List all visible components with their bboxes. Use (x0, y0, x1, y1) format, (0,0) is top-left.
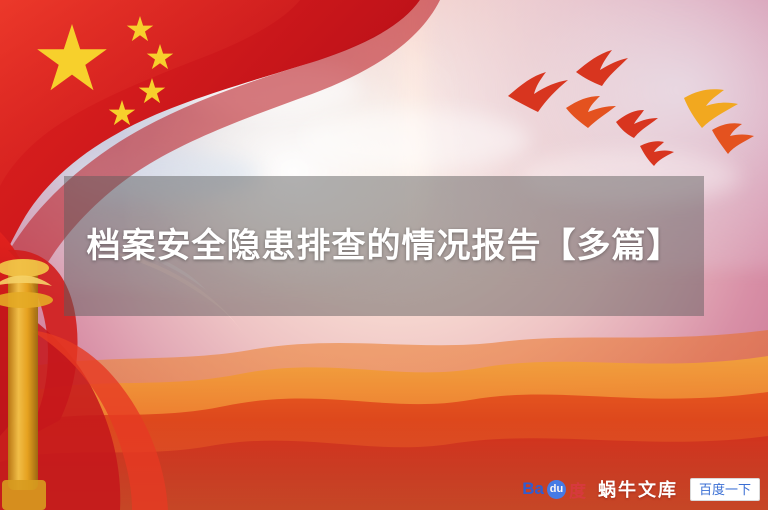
baidu-search-button[interactable]: 百度一下 (690, 478, 760, 501)
footer-watermark-row: Ba du 度 蜗牛文库 百度一下 (522, 474, 760, 504)
site-watermark: 蜗牛文库 (598, 476, 678, 502)
page-title: 档案安全隐患排查的情况报告【多篇】 (84, 219, 684, 273)
bird-3 (566, 96, 616, 128)
baidu-logo-text-after: 度 (569, 477, 586, 502)
bird-6 (712, 123, 754, 154)
poster-image: 档案安全隐患排查的情况报告【多篇】 Ba du 度 蜗牛文库 百度一下 (0, 0, 768, 510)
baidu-logo-text-before: Ba (522, 479, 544, 499)
bird-1 (508, 72, 568, 112)
baidu-logo: Ba du 度 (522, 477, 586, 502)
bird-5 (684, 89, 738, 128)
bird-7 (640, 141, 674, 166)
page-title-line-2: 多篇】 (577, 227, 682, 265)
baidu-paw-icon: du (547, 480, 566, 499)
title-plate: 档案安全隐患排查的情况报告【多篇】 (64, 176, 704, 316)
bird-4 (616, 110, 658, 138)
page-title-line-1: 档案安全隐患排查的情况报告【 (87, 227, 577, 265)
bird-2 (576, 50, 628, 86)
